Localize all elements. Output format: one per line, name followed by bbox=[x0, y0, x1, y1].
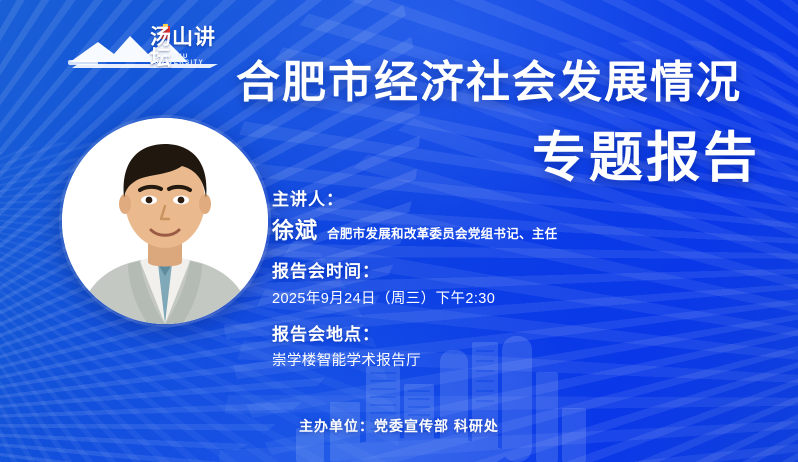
page-title-line-1: 合肥市经济社会发展情况 bbox=[236, 58, 742, 107]
event-details: 主讲人： 徐斌 合肥市发展和改革委员会党组书记、主任 报告会时间： 2025年9… bbox=[272, 190, 692, 371]
time-label: 报告会时间： bbox=[272, 262, 692, 282]
brand-logo: 汤山讲坛 CHAOHU UNIVERSITY bbox=[68, 24, 236, 72]
time-value: 2025年9月24日（周三）下午2:30 bbox=[272, 290, 692, 309]
speaker-title: 合肥市发展和改革委员会党组书记、主任 bbox=[327, 228, 557, 241]
place-value: 崇学楼智能学术报告厅 bbox=[272, 352, 692, 371]
speaker-name: 徐斌 bbox=[272, 220, 318, 242]
speaker-row: 徐斌 合肥市发展和改革委员会党组书记、主任 bbox=[272, 220, 692, 242]
spacer-2 bbox=[272, 309, 692, 325]
organizer-footer: 主办单位：党委宣传部 科研处 bbox=[0, 416, 798, 436]
speaker-portrait bbox=[62, 118, 268, 324]
spacer-1 bbox=[272, 242, 692, 262]
speaker-label: 主讲人： bbox=[272, 190, 692, 210]
page-title-line-2: 专题报告 bbox=[532, 128, 760, 188]
place-label: 报告会地点： bbox=[272, 325, 692, 345]
logo-name-en: CHAOHU UNIVERSITY bbox=[154, 54, 236, 66]
poster-canvas: 汤山讲坛 CHAOHU UNIVERSITY bbox=[0, 0, 798, 462]
